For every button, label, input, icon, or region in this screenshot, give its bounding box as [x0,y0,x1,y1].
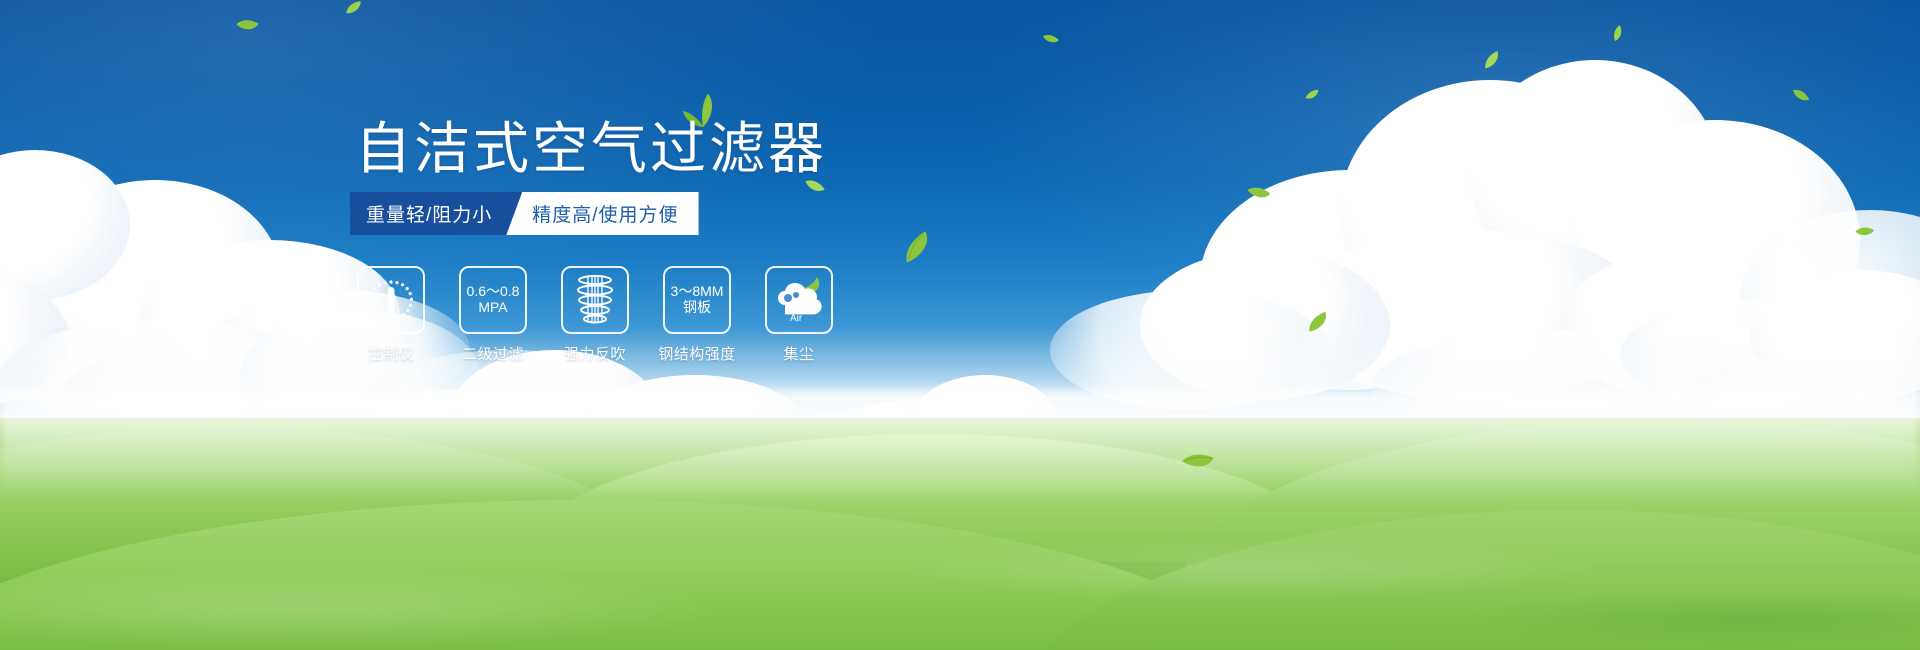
dial-on-label: NO [369,296,380,303]
feature-item-control: NO OFF 控制仪 [352,266,430,364]
feature-item-dust: Air 集尘 [760,266,838,364]
filter-coil-icon [569,273,621,327]
pressure-unit-text: MPA [478,300,507,316]
tag-badge-secondary: 精度高/使用方便 [506,192,698,235]
feature-caption: 强力反吹 [564,343,626,364]
feature-item-steel: 3～8MM 钢板 钢结构强度 [658,266,736,364]
feature-caption: 钢结构强度 [658,343,736,364]
air-label: Air [790,313,803,324]
feature-icon-box: 0.6～0.8 MPA [459,266,527,334]
power-dial-icon: NO OFF [363,274,419,326]
feature-icon-box [561,266,629,334]
feature-caption: 控制仪 [368,343,415,364]
steel-material-text: 钢板 [683,300,711,316]
feature-caption: 二级过滤 [462,343,524,364]
page-title: 自洁式空气过滤器 [355,118,827,180]
feature-icon-box: 3～8MM 钢板 [663,266,731,334]
hero-banner: 自洁式空气过滤器 重量轻/阻力小 精度高/使用方便 [0,0,1920,650]
tag-badge-primary: 重量轻/阻力小 [350,192,522,235]
dust-cloud-icon: Air [771,275,827,325]
pressure-range-text: 0.6～0.8 [467,284,520,300]
steel-thickness-text: 3～8MM [671,284,724,300]
feature-caption: 集尘 [783,343,814,364]
dial-off-label: OFF [399,316,411,322]
feature-list: NO OFF 控制仪 0.6～0.8 MPA 二级过滤 [352,266,838,364]
tag-row: 重量轻/阻力小 精度高/使用方便 [350,192,699,235]
feature-item-blowback: 强力反吹 [556,266,634,364]
feature-icon-box: Air [765,266,833,334]
banner-content: 自洁式空气过滤器 重量轻/阻力小 精度高/使用方便 [0,0,1920,650]
feature-icon-box: NO OFF [357,266,425,334]
feature-item-pressure: 0.6～0.8 MPA 二级过滤 [454,266,532,364]
